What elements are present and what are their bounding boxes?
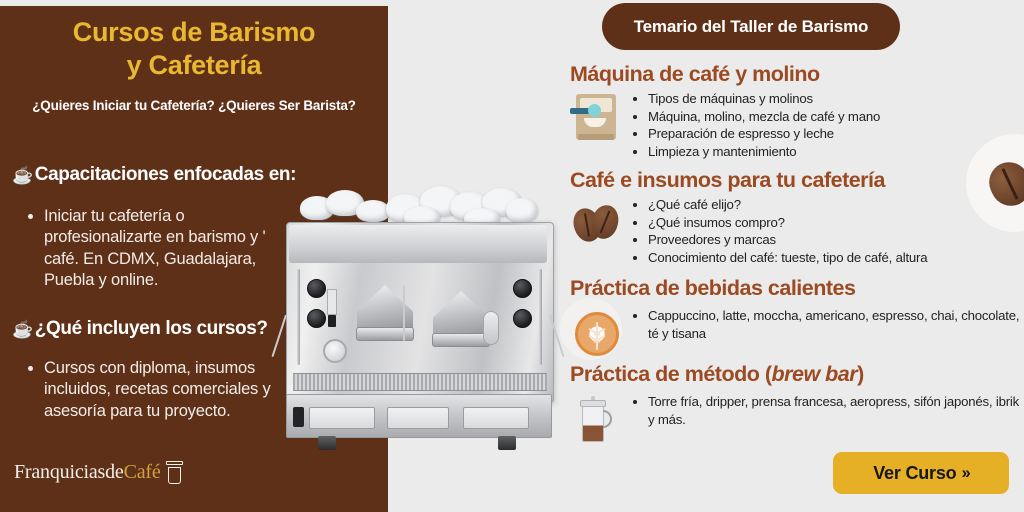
section-heading: Práctica de bebidas calientes <box>570 276 1024 301</box>
page-title: Cursos de Barismo y Cafetería <box>0 16 388 82</box>
coffee-bean-icon <box>983 156 1024 213</box>
list-item: Preparación de espresso y leche <box>648 125 880 143</box>
brand-name-main: Franquiciasde <box>14 461 124 483</box>
section-heading: Máquina de café y molino <box>570 62 1024 87</box>
title-line-1: Cursos de Barismo <box>0 16 388 49</box>
takeaway-cup-icon <box>166 461 183 484</box>
section-bebidas-calientes: Práctica de bebidas calientes Cappuccino… <box>570 276 1024 361</box>
list-item: Cursos con diploma, insumos incluidos, r… <box>44 358 294 422</box>
temario-badge: Temario del Taller de Barismo <box>602 3 900 50</box>
lead-heading-2-label: ¿Qué incluyen los cursos? <box>35 318 268 340</box>
list-item: Máquina, molino, mezcla de café y mano <box>648 108 880 126</box>
section-cafe-e-insumos: Café e insumos para tu cafetería ¿Qué ca… <box>570 168 1024 266</box>
poster-canvas: Cursos de Barismo y Cafetería ¿Quieres I… <box>0 0 1024 512</box>
section-heading-tail: ) <box>857 362 864 386</box>
list-item: ¿Qué insumos compro? <box>648 214 927 232</box>
brand-name-accent: Café <box>124 461 161 483</box>
section-bullet-list: Tipos de máquinas y molinos Máquina, mol… <box>632 90 880 160</box>
brand-logo: FranquiciasdeCafé <box>14 461 183 484</box>
coffee-beans-icon <box>570 196 624 250</box>
page-subtitle: ¿Quieres Iniciar tu Cafetería? ¿Quieres … <box>0 98 388 113</box>
list-item: Cappuccino, latte, moccha, americano, es… <box>648 307 1024 342</box>
brand-logo-text: FranquiciasdeCafé <box>14 461 161 484</box>
section-practica-de-metodo: Práctica de método (brew bar) Torre fría… <box>570 362 1024 447</box>
section-heading: Práctica de método (brew bar) <box>570 362 1024 387</box>
lead-heading-capacitaciones: ☕ Capacitaciones enfocadas en: <box>12 164 382 186</box>
section-maquina-de-cafe: Máquina de café y molino Tipos de máquin… <box>570 62 1024 160</box>
list-item: Torre fría, dripper, prensa francesa, ae… <box>648 393 1024 428</box>
ver-curso-button[interactable]: Ver Curso ›› <box>833 452 1009 494</box>
espresso-machine-icon <box>570 90 624 144</box>
list-item: ¿Qué café elijo? <box>648 196 927 214</box>
section-bullet-list: ¿Qué café elijo? ¿Qué insumos compro? Pr… <box>632 196 927 266</box>
list-item: Conocimiento del café: tueste, tipo de c… <box>648 249 927 267</box>
cta-label: Ver Curso <box>873 463 956 484</box>
left-bullet-list-2: Cursos con diploma, insumos incluidos, r… <box>22 358 294 422</box>
section-bullet-list: Torre fría, dripper, prensa francesa, ae… <box>632 393 1024 428</box>
list-item: Iniciar tu cafetería o profesionalizarte… <box>44 206 294 292</box>
list-item: Proveedores y marcas <box>648 231 927 249</box>
left-bullet-list-1: Iniciar tu cafetería o profesionalizarte… <box>22 206 294 292</box>
coffee-cup-icon: ☕ <box>12 321 33 338</box>
chevron-right-icon: ›› <box>961 463 968 483</box>
french-press-icon <box>570 393 624 447</box>
section-heading: Café e insumos para tu cafetería <box>570 168 1024 193</box>
list-item: Limpieza y mantenimiento <box>648 143 880 161</box>
section-bullet-list: Cappuccino, latte, moccha, americano, es… <box>632 307 1024 342</box>
title-line-2: y Cafetería <box>0 49 388 82</box>
espresso-machine-photo <box>286 186 552 446</box>
section-heading-italic: brew bar <box>771 362 857 386</box>
machine-base <box>286 394 552 438</box>
lead-heading-1-label: Capacitaciones enfocadas en: <box>35 164 296 186</box>
section-heading-main: Práctica de método ( <box>570 362 771 386</box>
latte-art-icon <box>570 307 624 361</box>
coffee-cup-icon: ☕ <box>12 167 33 184</box>
machine-body <box>286 222 554 402</box>
list-item: Tipos de máquinas y molinos <box>648 90 880 108</box>
